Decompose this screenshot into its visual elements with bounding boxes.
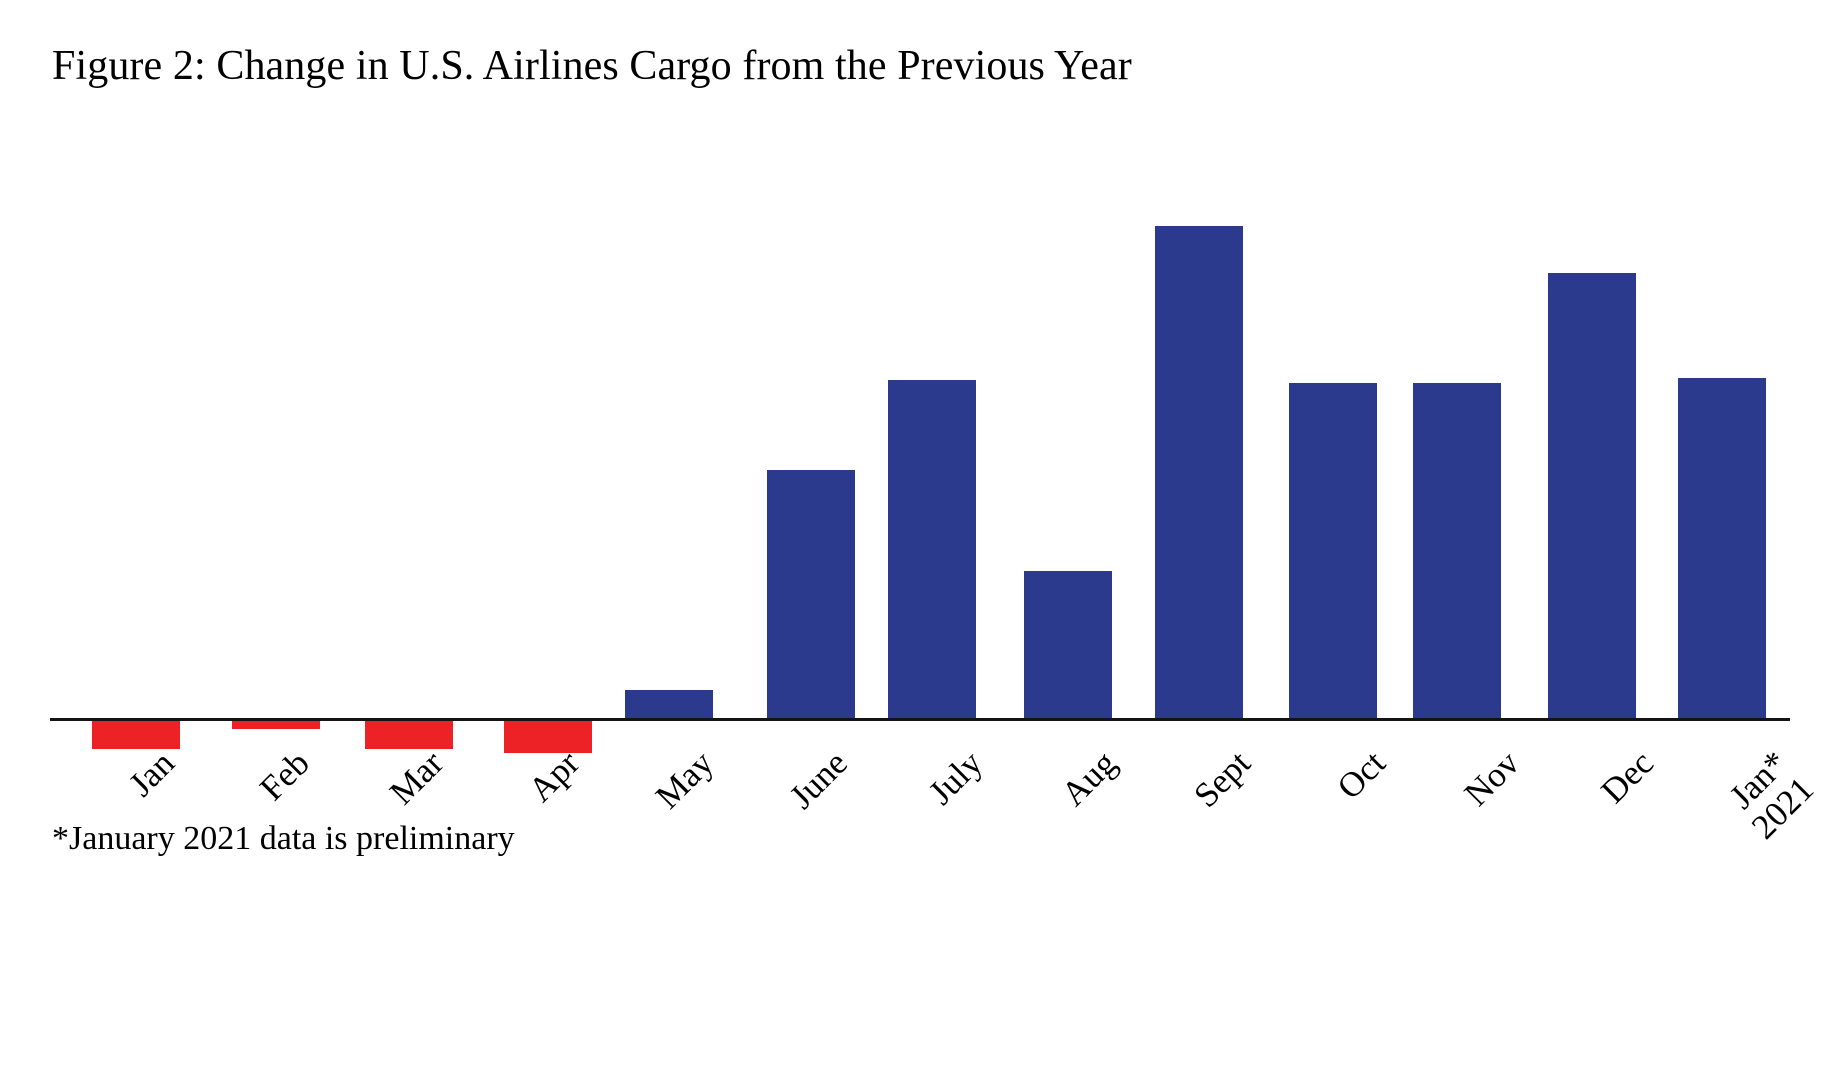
x-axis-label-line-1: Oct: [1330, 743, 1393, 806]
x-axis-label-line-1: Aug: [1054, 743, 1124, 813]
x-axis-label-line-1: Feb: [252, 743, 317, 808]
x-axis-label-line-1: Dec: [1593, 743, 1660, 810]
x-axis-label-line-1: June: [782, 743, 855, 816]
x-axis-label-line-1: Nov: [1457, 743, 1527, 813]
x-axis-label-janstar: Jan*2021: [1485, 744, 1820, 1079]
footnote-text: *January 2021 data is preliminary: [52, 820, 515, 858]
plot-area: JanFebMarAprMayJuneJulyAugSeptOctNovDecJ…: [0, 0, 1836, 1076]
x-axis-label-line-1: Jan: [121, 743, 182, 804]
x-axis-label-line-1: Sept: [1186, 743, 1258, 815]
x-axis-category-labels: JanFebMarAprMayJuneJulyAugSeptOctNovDecJ…: [0, 0, 1836, 1076]
x-axis-label-line-1: Mar: [382, 743, 451, 812]
x-axis-label-line-1: May: [648, 743, 721, 816]
x-axis-label-line-2: 2021: [1511, 770, 1820, 1079]
x-axis-label-line-1: Apr: [521, 743, 587, 809]
figure-container: Figure 2: Change in U.S. Airlines Cargo …: [0, 0, 1836, 1076]
x-axis-label-line-1: July: [921, 743, 990, 812]
